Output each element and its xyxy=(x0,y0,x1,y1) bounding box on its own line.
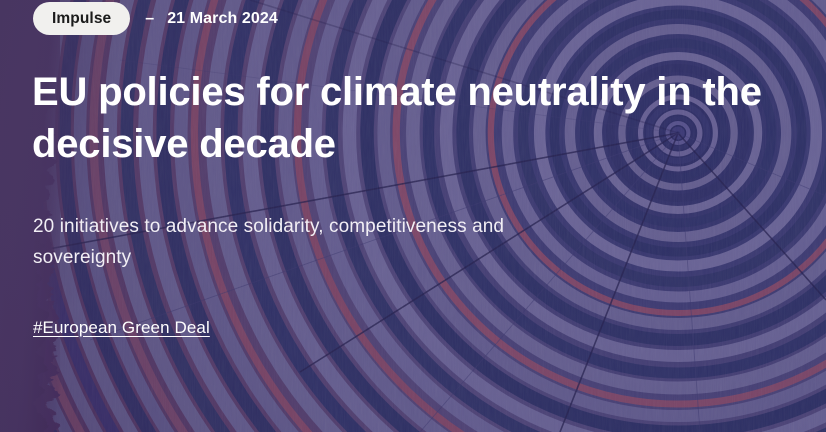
impulse-hero-banner: Impulse – 21 March 2024 EU policies for … xyxy=(0,0,826,432)
impulse-badge: Impulse xyxy=(33,2,130,35)
meta-row: Impulse – 21 March 2024 xyxy=(33,2,278,35)
hero-content: Impulse – 21 March 2024 EU policies for … xyxy=(0,0,826,432)
topic-tag-link[interactable]: #European Green Deal xyxy=(33,318,210,338)
page-title: EU policies for climate neutrality in th… xyxy=(32,66,772,170)
meta-separator: – xyxy=(145,11,154,27)
page-subtitle: 20 initiatives to advance solidarity, co… xyxy=(33,211,593,273)
publication-date: 21 March 2024 xyxy=(167,10,278,28)
